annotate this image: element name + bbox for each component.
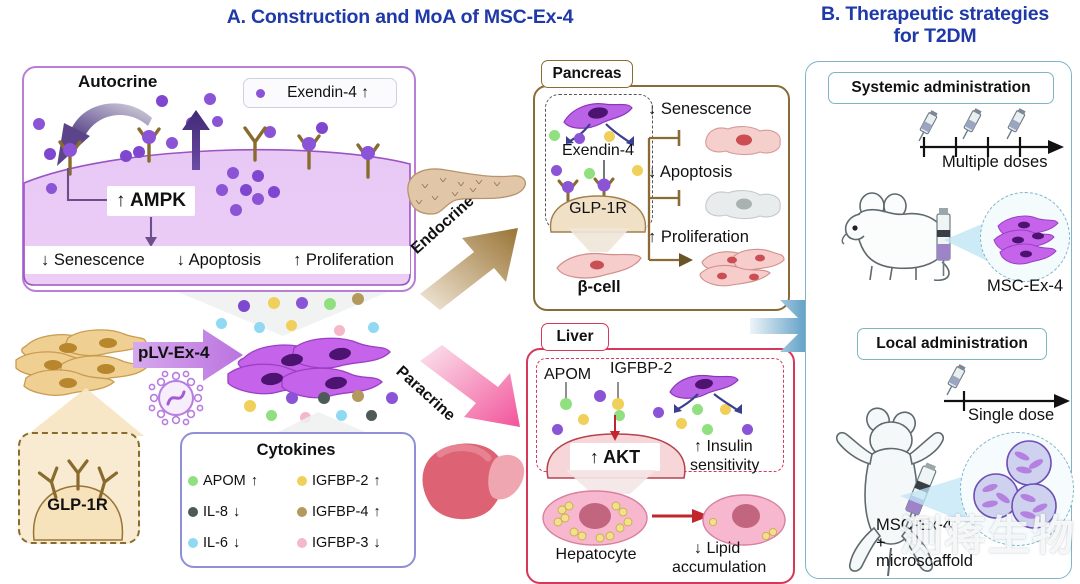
panel-b-title-line2: for T2DM [800, 25, 1070, 47]
liver-organ-icon [412, 428, 530, 528]
cytokines-title: Cytokines [180, 441, 412, 460]
cytokine-change: ↓ [373, 535, 380, 551]
exendin-dot [230, 204, 242, 216]
cytokine-dot [352, 293, 364, 305]
cytokine-change: ↑ [373, 504, 380, 520]
glp1r-receptor-icon [66, 455, 90, 489]
cytokine-dot [296, 297, 308, 309]
liver-tag: Liver [541, 323, 609, 351]
exendin-dot [216, 184, 228, 196]
exendin-dot [252, 170, 264, 182]
exendin-dot [46, 183, 57, 194]
cytokine-dot [216, 318, 227, 329]
cytokine-dot [324, 298, 336, 310]
liver-igfbp2-label: IGFBP-2 [610, 360, 672, 378]
pancreas-effect-apoptosis: ↓ Apoptosis [648, 163, 732, 182]
cytokine-dot-apom [188, 476, 198, 486]
cytokine-dot [352, 390, 364, 402]
plv-ex4-label: pLV-Ex-4 [138, 343, 209, 363]
cytokine-dot [594, 390, 606, 402]
apoptotic-cell-icon [702, 188, 784, 220]
outcome-senescence: ↓ Senescence [41, 251, 145, 270]
cytokine-name: IL-8 [203, 504, 228, 520]
cytokine-item: IGFBP-3 ↓ [297, 535, 406, 551]
single-dose-label: Single dose [968, 406, 1054, 425]
cytokine-change: ↓ [233, 535, 240, 551]
cytokine-item: IGFBP-2 ↑ [297, 473, 406, 489]
glp1r-receptor-icon [92, 464, 116, 498]
multiple-doses-label: Multiple doses [942, 153, 1047, 172]
exendin-dot [268, 186, 280, 198]
cytokine-change: ↓ [233, 504, 240, 520]
glp1r-receptor-icon [296, 128, 322, 168]
cytokine-dot [549, 130, 560, 141]
cytokine-name: APOM [203, 473, 246, 489]
panel-b-title-line1: B. Therapeutic strategies [800, 3, 1070, 25]
exendin-dot [33, 118, 45, 130]
liver-secretion-curves [660, 392, 752, 418]
autocrine-heading: Autocrine [78, 72, 157, 92]
exendin4-legend-label: Exendin-4 ↑ [287, 84, 369, 102]
zoom-cone-glp1r [18, 388, 148, 438]
hepatocyte-lipid-icon [540, 488, 650, 548]
hepatocyte-label: Hepatocyte [538, 546, 654, 564]
glp1r-receptor-icon [136, 121, 162, 161]
cytokine-dot [368, 322, 379, 333]
cytokine-item: IL-6 ↓ [188, 535, 297, 551]
cytokine-name: IGFBP-3 [312, 535, 368, 551]
exendin-dot [227, 167, 239, 179]
cytokine-item: IGFBP-4 ↑ [297, 504, 406, 520]
exendin-dot [156, 95, 168, 107]
insulin-sensitivity-line1: ↑ Insulin [694, 438, 753, 456]
akt-box: ↑ AKT [570, 443, 660, 471]
cytokine-dot [286, 320, 297, 331]
cytokine-dot [632, 165, 643, 176]
glp1r-receptor-icon [242, 120, 268, 160]
beta-cell-icon [553, 250, 645, 280]
ampk-down-arrow-icon [144, 217, 158, 247]
pancreas-effect-connectors [645, 128, 705, 273]
outcome-proliferation: ↑ Proliferation [293, 251, 394, 270]
lipid-accumulation-line1: ↓ Lipid [694, 540, 740, 558]
lipid-accumulation-line2: accumulation [672, 559, 766, 577]
cytokine-dot [268, 297, 280, 309]
cytokine-dot-igfbp3 [297, 538, 307, 548]
cytokine-dot-igfbp2 [297, 476, 307, 486]
exendin-dot [166, 137, 178, 149]
cytokine-dot [612, 398, 624, 410]
ampk-box: ↑ AMPK [107, 186, 195, 216]
cytokine-name: IL-6 [203, 535, 228, 551]
pancreas-effect-senescence: ↓ Senescence [648, 100, 752, 119]
pancreas-organ-icon [402, 152, 530, 220]
cytokine-name: IGFBP-4 [312, 504, 368, 520]
cytokine-item: IL-8 ↓ [188, 504, 297, 520]
pancreas-exendin4-label: Exendin-4 [548, 142, 648, 160]
exendin-dot [120, 150, 132, 162]
exendin-dot [204, 93, 216, 105]
pancreas-effect-proliferation: ↑ Proliferation [648, 228, 749, 247]
cytokine-name: IGFBP-2 [312, 473, 368, 489]
cytokines-list: APOM ↑ IGFBP-2 ↑ IL-8 ↓ IGFBP-4 ↑ IL-6 ↓… [188, 466, 406, 558]
cytokine-item: APOM ↑ [188, 473, 297, 489]
exendin-dot [252, 193, 264, 205]
cytokine-dot [334, 325, 345, 336]
msc-ex4-product-label: MSC-Ex-4 [978, 277, 1072, 296]
panel-a-title: A. Construction and MoA of MSC-Ex-4 [180, 6, 620, 28]
exendin-dot [212, 116, 223, 127]
akt-down-arrow-icon [608, 415, 622, 441]
secretion-arrow-icon [179, 108, 213, 170]
cytokine-dot [238, 300, 250, 312]
cytokine-dot [286, 392, 298, 404]
beta-cell-label: β-cell [553, 278, 645, 297]
cytokine-dot-il8 [188, 507, 198, 517]
microscaffold-product-line2: + [876, 534, 886, 553]
exendin-dot [240, 184, 252, 196]
cytokine-dot [244, 400, 256, 412]
outcome-apoptosis: ↓ Apoptosis [177, 251, 261, 270]
cytokine-dot [386, 392, 398, 404]
exendin-dot [44, 148, 56, 160]
watermark: 测蒋生物 [900, 502, 1076, 563]
systemic-administration-tag: Systemic administration [828, 72, 1054, 104]
senescent-cell-icon [702, 124, 784, 156]
cytokine-dot-igfbp4 [297, 507, 307, 517]
pancreas-tag: Pancreas [541, 60, 633, 88]
exendin4-legend-dot [256, 89, 265, 98]
insulin-sensitivity-line2: sensitivity [690, 457, 759, 475]
cytokine-dot [702, 424, 713, 435]
cytokine-dot-il6 [188, 538, 198, 548]
cytokine-dot [742, 424, 753, 435]
cytokine-dot [254, 322, 265, 333]
local-administration-tag: Local administration [857, 328, 1047, 360]
exendin4-legend: Exendin-4 ↑ [243, 78, 397, 108]
glp1r-inset-label: GLP-1R [25, 496, 130, 515]
glp1r-receptor-icon [40, 464, 64, 498]
msc-ex4-cells-circle [992, 212, 1058, 264]
pancreas-glp1r-label: GLP-1R [548, 200, 648, 218]
lentivirus-icon [148, 370, 204, 426]
cytokine-dot [604, 131, 615, 142]
glp1r-receptor-icon [355, 137, 381, 177]
cytokine-dot [560, 398, 572, 410]
cytokine-change: ↑ [251, 473, 258, 489]
cytokine-dot [318, 392, 330, 404]
paracrine-arrow-icon [414, 345, 526, 427]
autocrine-outcomes: ↓ Senescence ↓ Apoptosis ↑ Proliferation [25, 246, 410, 274]
cytokine-change: ↑ [373, 473, 380, 489]
